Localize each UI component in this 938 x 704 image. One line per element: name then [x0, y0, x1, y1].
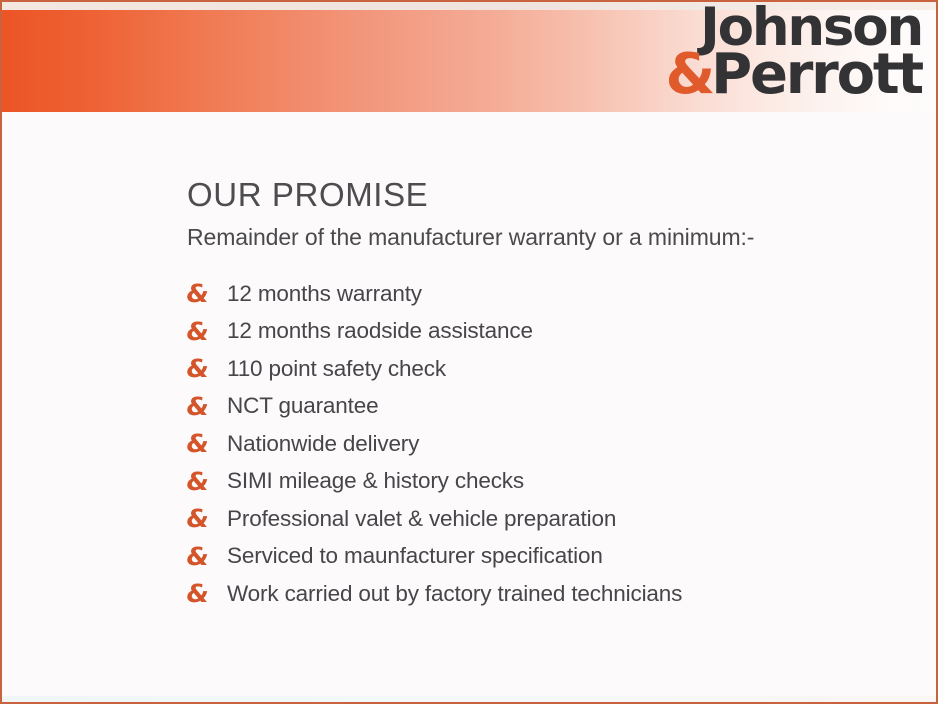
ampersand-bullet-icon: & [185, 394, 230, 419]
list-item-label: Work carried out by factory trained tech… [227, 581, 682, 607]
ampersand-bullet-icon: & [185, 506, 230, 531]
list-item-label: Professional valet & vehicle preparation [227, 506, 616, 532]
ampersand-bullet-icon: & [185, 469, 230, 494]
ampersand-bullet-icon: & [185, 581, 230, 606]
ampersand-bullet-icon: & [185, 431, 230, 456]
list-item-label: NCT guarantee [227, 393, 378, 419]
main-content: OUR PROMISE Remainder of the manufacture… [187, 174, 916, 613]
list-item-label: Nationwide delivery [227, 431, 419, 457]
list-item-label: 110 point safety check [227, 356, 446, 382]
brand-logo: Johnson &Perrott [666, 4, 922, 100]
list-item-label: 12 months raodside assistance [227, 318, 533, 344]
ampersand-icon: & [666, 49, 712, 101]
list-item: & Nationwide delivery [187, 425, 916, 463]
ampersand-bullet-icon: & [185, 544, 230, 569]
list-item-label: 12 months warranty [227, 281, 422, 307]
list-item: & 12 months warranty [187, 275, 916, 313]
bottom-edge-strip [2, 696, 936, 702]
list-item: & SIMI mileage & history checks [187, 463, 916, 501]
ampersand-bullet-icon: & [185, 356, 230, 381]
list-item: & Work carried out by factory trained te… [187, 575, 916, 613]
ampersand-bullet-icon: & [185, 319, 230, 344]
promise-list: & 12 months warranty & 12 months raodsid… [187, 275, 916, 613]
list-item: & NCT guarantee [187, 388, 916, 426]
list-item: & Professional valet & vehicle preparati… [187, 500, 916, 538]
page-title: OUR PROMISE [187, 174, 916, 215]
list-item: & 12 months raodside assistance [187, 313, 916, 351]
list-item-label: SIMI mileage & history checks [227, 468, 524, 494]
ampersand-bullet-icon: & [185, 281, 230, 306]
promise-card: Johnson &Perrott OUR PROMISE Remainder o… [0, 0, 938, 704]
list-item: & Serviced to maunfacturer specification [187, 538, 916, 576]
logo-text-perrott: Perrott [711, 42, 922, 107]
list-item-label: Serviced to maunfacturer specification [227, 543, 603, 569]
page-subtitle: Remainder of the manufacturer warranty o… [187, 223, 916, 253]
logo-text-perrott-row: &Perrott [666, 49, 922, 101]
list-item: & 110 point safety check [187, 350, 916, 388]
